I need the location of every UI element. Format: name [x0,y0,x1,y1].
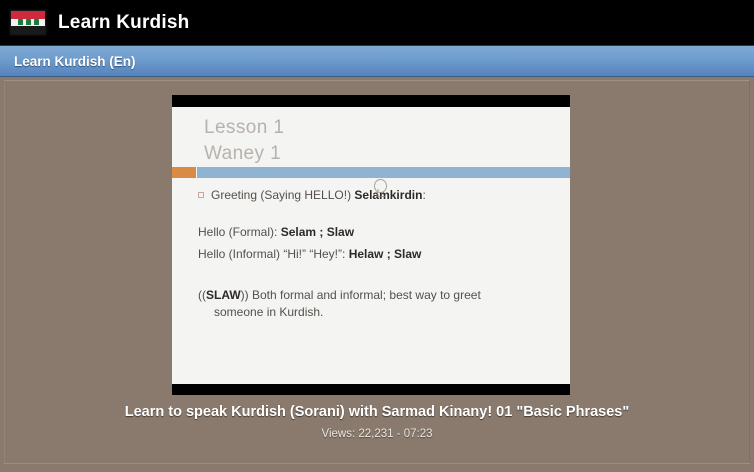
note-suffix: )) Both formal and informal; best way to… [241,288,481,302]
phrase-row-informal: Hello (Informal) “Hi!” “Hey!”: Helaw ; S… [198,246,560,263]
video-player[interactable]: Lesson 1 Waney 1 Greeting (Saying HELLO!… [172,95,570,395]
flag-script-glyph [18,19,23,25]
slide-accent-orange [172,167,196,178]
tab-learn-kurdish-en[interactable]: Learn Kurdish (En) [14,54,136,69]
slide-body: Greeting (Saying HELLO!) Selamkirdin: He… [198,187,560,321]
nav-bar: Learn Kurdish (En) [0,45,754,77]
phrase-formal-label: Hello (Formal): [198,225,281,239]
slide-note-line1: ((SLAW)) Both formal and informal; best … [198,287,560,304]
slide-note: ((SLAW)) Both formal and informal; best … [198,287,560,321]
content-bottom-divider [4,463,750,464]
phrase-formal-value: Selam ; Slaw [281,225,354,239]
video-caption: Learn to speak Kurdish (Sorani) with Sar… [0,404,754,440]
app-title: Learn Kurdish [58,12,189,34]
video-letterbox-top [172,95,570,107]
phrase-row-formal: Hello (Formal): Selam ; Slaw [198,224,560,241]
slide-heading-waney: Waney 1 [204,141,281,167]
square-bullet-icon [198,192,204,198]
phrase-informal-label: Hello (Informal) “Hi!” “Hey!”: [198,247,349,261]
phrase-informal-value: Helaw ; Slaw [349,247,422,261]
app-header: Learn Kurdish [0,0,754,45]
flag-script-glyph [26,19,31,25]
greeting-term: Selamkirdin [354,188,422,202]
slide-accent-blue-bar [197,167,570,178]
video-title: Learn to speak Kurdish (Sorani) with Sar… [0,404,754,420]
greeting-colon: : [422,188,425,202]
flag-arabic-script [11,19,45,27]
flag-script-glyph [34,19,39,25]
greeting-bullet-text: Greeting (Saying HELLO!) Selamkirdin: [211,187,426,203]
video-letterbox-bottom [172,384,570,395]
slide-note-line2: someone in Kurdish. [198,304,560,321]
video-meta-views-duration: Views: 22,231 - 07:23 [0,428,754,440]
flag-band-black [11,26,45,34]
slide-heading-lesson: Lesson 1 [204,115,284,141]
flag-band-red [11,11,45,19]
iraq-flag-icon [10,10,46,35]
greeting-label: Greeting (Saying HELLO!) [211,188,354,202]
app-window: Learn Kurdish Learn Kurdish (En) Lesson … [0,0,754,472]
note-prefix: (( [198,288,206,302]
lesson-slide: Lesson 1 Waney 1 Greeting (Saying HELLO!… [172,107,570,384]
note-keyword: SLAW [206,288,241,302]
mouse-cursor-icon [374,179,387,193]
